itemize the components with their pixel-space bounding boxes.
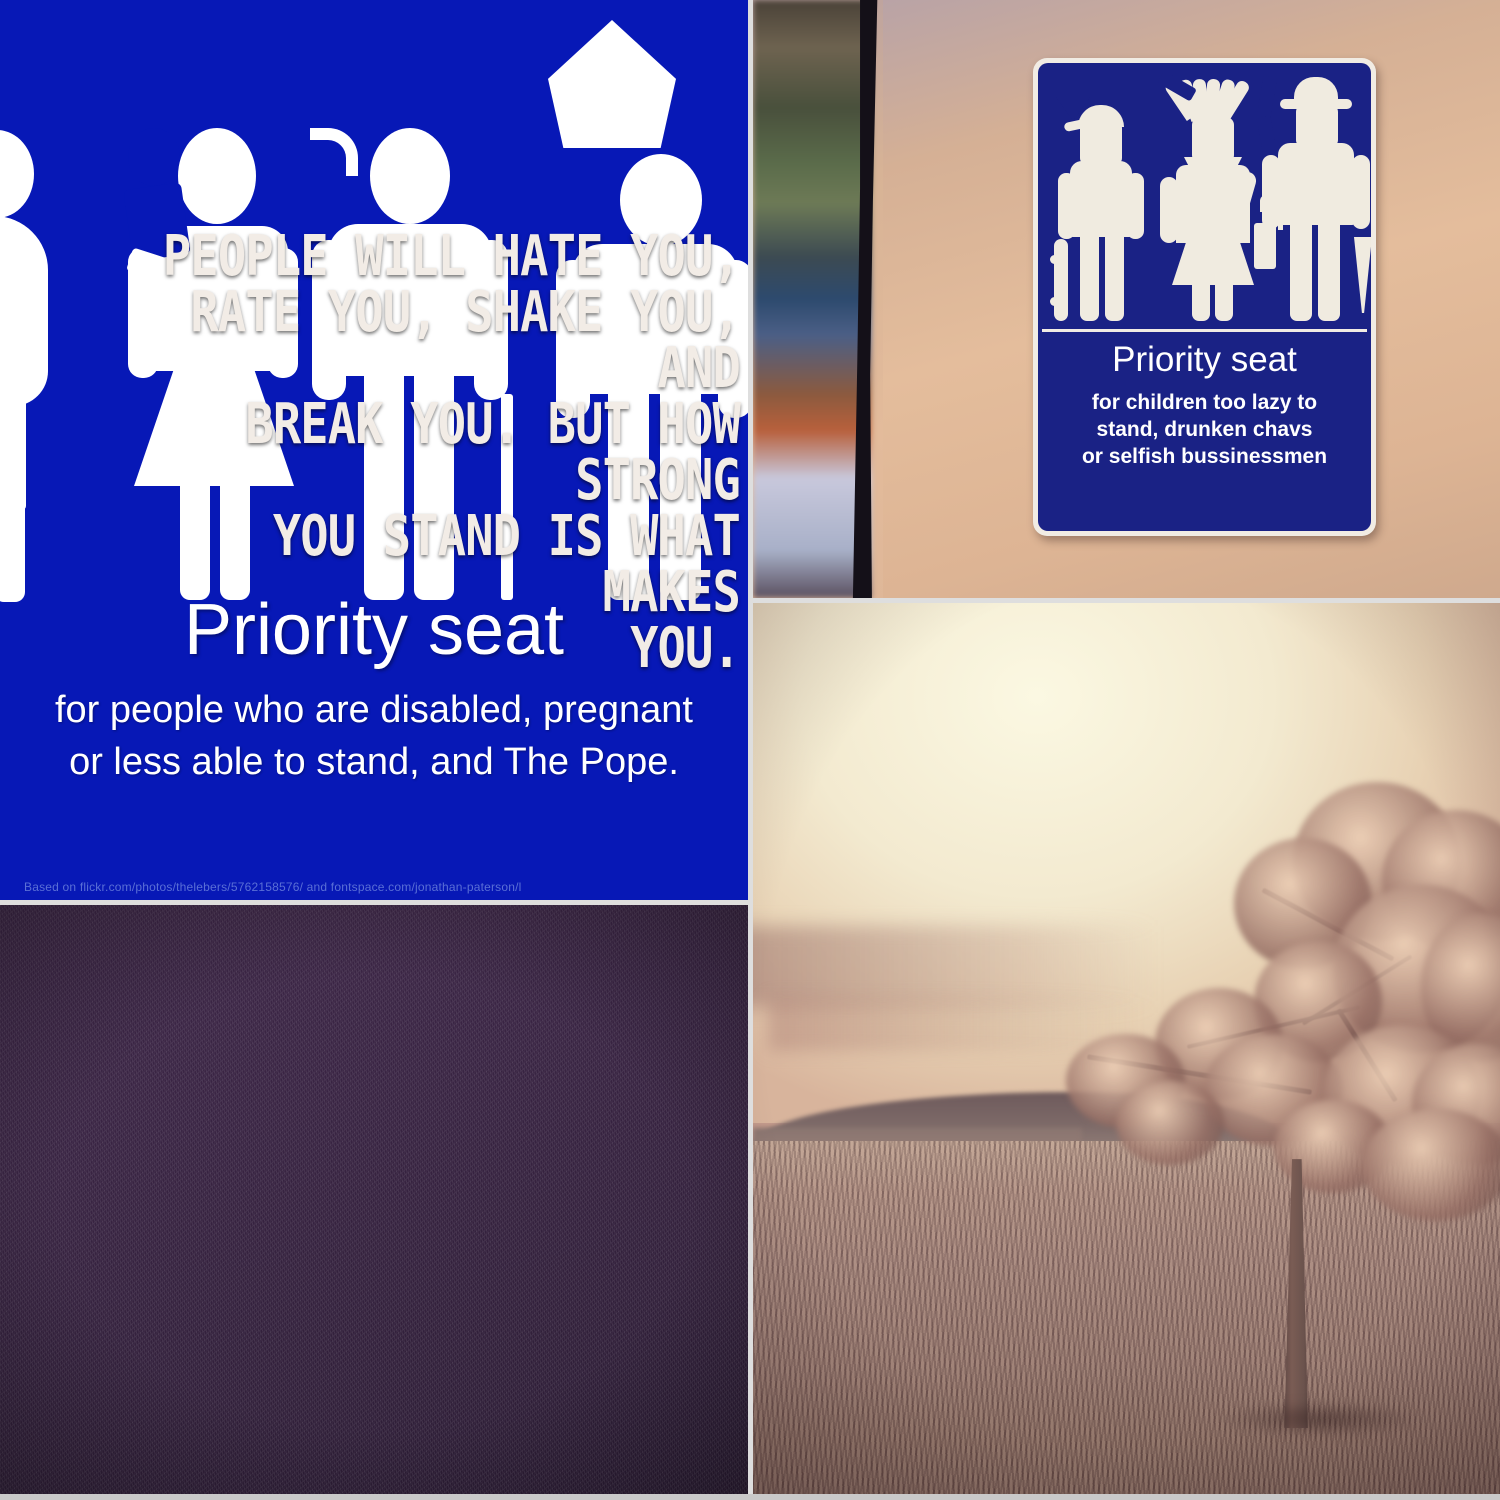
collage-gutter-vertical <box>748 0 753 1500</box>
train-priority-seat-sign: Priority seat for children too lazy to s… <box>1033 58 1376 536</box>
photo-collage: Priority seat for people who are disable… <box>0 0 1500 1500</box>
sign-subtitle: for people who are disabled, pregnant or… <box>0 684 748 788</box>
sign-subtitle-line-2: stand, drunken chavs <box>1038 416 1371 443</box>
sign-board: Priority seat for children too lazy to s… <box>1038 63 1371 531</box>
sign-subtitle-line-1: for children too lazy to <box>1038 389 1371 416</box>
sign-subtitle: for children too lazy to stand, drunken … <box>1038 389 1371 470</box>
quote-line: RATE YOU, SHAKE YOU, AND <box>125 285 740 397</box>
collage-bottom-edge <box>0 1494 1500 1500</box>
sign-text-block: Priority seat for children too lazy to s… <box>1038 339 1371 470</box>
collage-gutter-left <box>0 900 748 905</box>
kid-with-skateboard-icon <box>1056 97 1152 321</box>
pregnant-woman-icon <box>0 130 72 600</box>
sign-divider <box>1042 329 1367 332</box>
quote-text: PEOPLE WILL HATE YOU, RATE YOU, SHAKE YO… <box>125 1 740 677</box>
sign-pictogram-row <box>1038 63 1371 329</box>
punk-with-bottle-icon <box>1158 79 1266 321</box>
photo-vignette <box>753 603 1500 1500</box>
businessman-with-umbrella-icon <box>1260 77 1371 321</box>
quote-line: BREAK YOU. BUT HOW STRONG <box>125 397 740 509</box>
collage-gutter-right <box>753 598 1500 603</box>
sign-attribution: Based on flickr.com/photos/thelebers/576… <box>24 880 748 894</box>
panel-quote-card <box>0 905 748 1500</box>
sign-subtitle-line-2: or less able to stand, and The Pope. <box>0 736 748 788</box>
quote-line: PEOPLE WILL HATE YOU, <box>125 229 740 285</box>
sign-title: Priority seat <box>1038 339 1371 381</box>
sign-subtitle-line-3: or selfish bussinessmen <box>1038 443 1371 470</box>
quote-line: YOU STAND IS WHAT MAKES <box>125 509 740 621</box>
train-window-blur <box>753 0 871 598</box>
panel-tree-photo <box>753 603 1500 1500</box>
quote-line: YOU. <box>125 621 740 677</box>
sign-subtitle-line-1: for people who are disabled, pregnant <box>0 684 748 736</box>
